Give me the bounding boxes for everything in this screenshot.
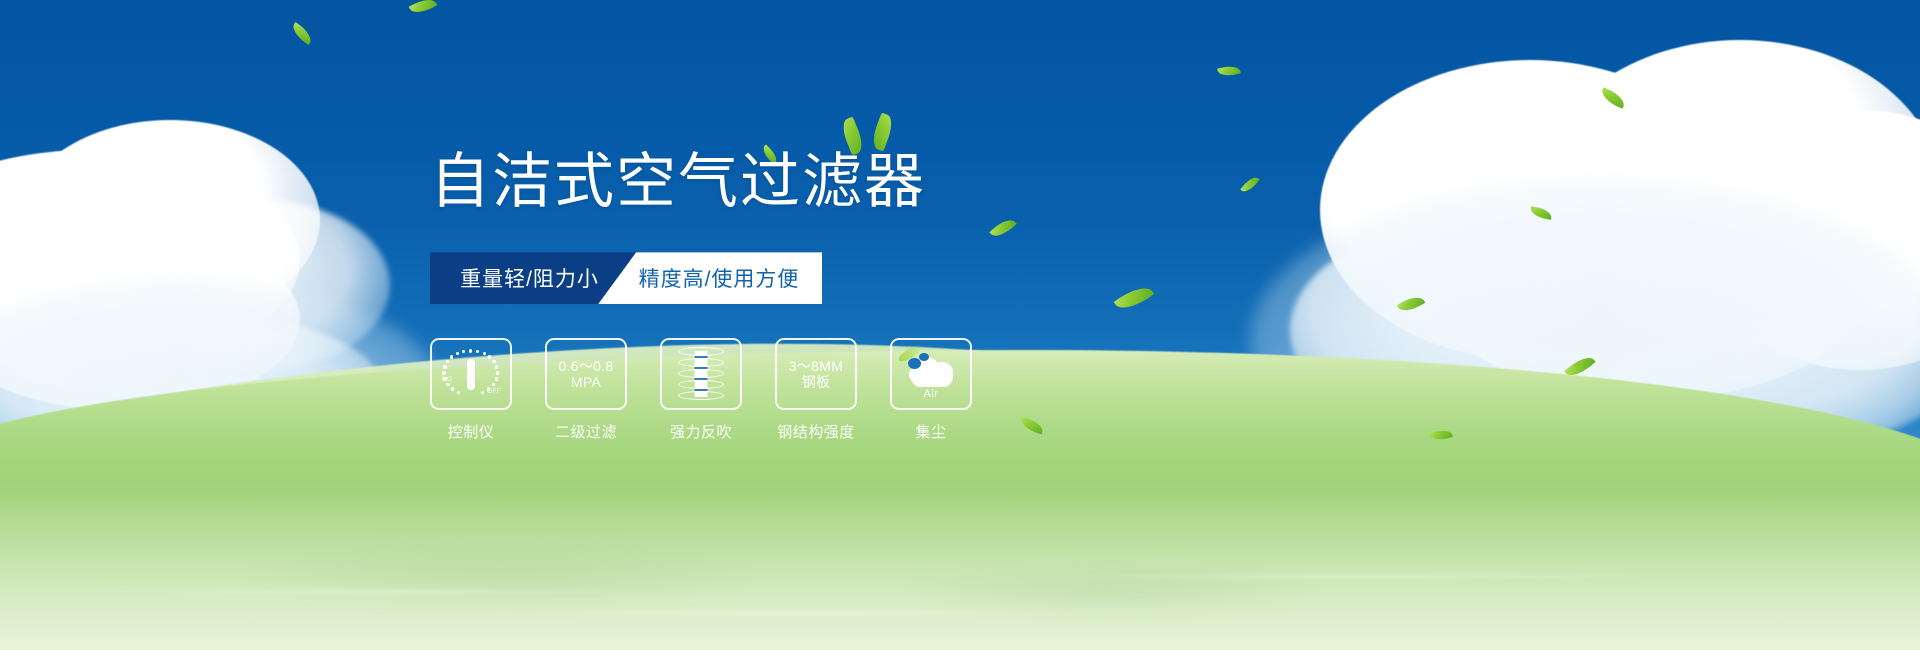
banner-content: 自洁式空气过滤器 重量轻/阻力小 精度高/使用方便: [430, 112, 1070, 442]
gauge-switch-icon: NO OFF: [442, 349, 500, 399]
steel-material: 钢板: [789, 374, 843, 391]
pressure-range: 0.6～0.8: [558, 358, 613, 375]
feature-item-pressure[interactable]: 0.6～0.8 MPA 二级过滤: [545, 338, 627, 442]
pressure-text-icon: 0.6～0.8 MPA: [558, 358, 613, 391]
filter-coil-icon: [678, 347, 724, 401]
feature-label: 控制仪: [430, 421, 512, 442]
feature-item-steel[interactable]: 3～8MM 钢板 钢结构强度: [775, 338, 857, 442]
air-cloud-icon: Air: [901, 351, 961, 397]
feature-icon-box: Air: [890, 338, 972, 410]
feature-item-dust[interactable]: Air 集尘: [890, 338, 972, 442]
feature-label: 钢结构强度: [775, 421, 857, 442]
gauge-needle: [467, 359, 475, 390]
feature-item-backblow[interactable]: 强力反吹: [660, 338, 742, 442]
hero-banner: 自洁式空气过滤器 重量轻/阻力小 精度高/使用方便: [0, 0, 1920, 650]
feature-icon-box: [660, 338, 742, 410]
feature-list: NO OFF 控制仪 0.6～0.8 MPA 二级过滤: [430, 338, 1070, 442]
feature-label: 强力反吹: [660, 421, 742, 442]
feature-label: 集尘: [890, 421, 972, 442]
gauge-on-label: NO: [442, 376, 452, 383]
feature-icon-box: 0.6～0.8 MPA: [545, 338, 627, 410]
steel-thickness: 3～8MM: [789, 358, 843, 375]
feature-label: 二级过滤: [545, 421, 627, 442]
feature-icon-box: NO OFF: [430, 338, 512, 410]
tagline-right: 精度高/使用方便: [598, 252, 822, 304]
gauge-off-label: OFF: [487, 388, 501, 395]
pressure-unit: MPA: [558, 374, 613, 391]
air-label: Air: [901, 388, 961, 400]
tagline-bar: 重量轻/阻力小 精度高/使用方便: [430, 252, 822, 304]
feature-item-controller[interactable]: NO OFF 控制仪: [430, 338, 512, 442]
feature-icon-box: 3～8MM 钢板: [775, 338, 857, 410]
steel-plate-text-icon: 3～8MM 钢板: [789, 358, 843, 391]
banner-title: 自洁式空气过滤器: [430, 152, 1070, 212]
